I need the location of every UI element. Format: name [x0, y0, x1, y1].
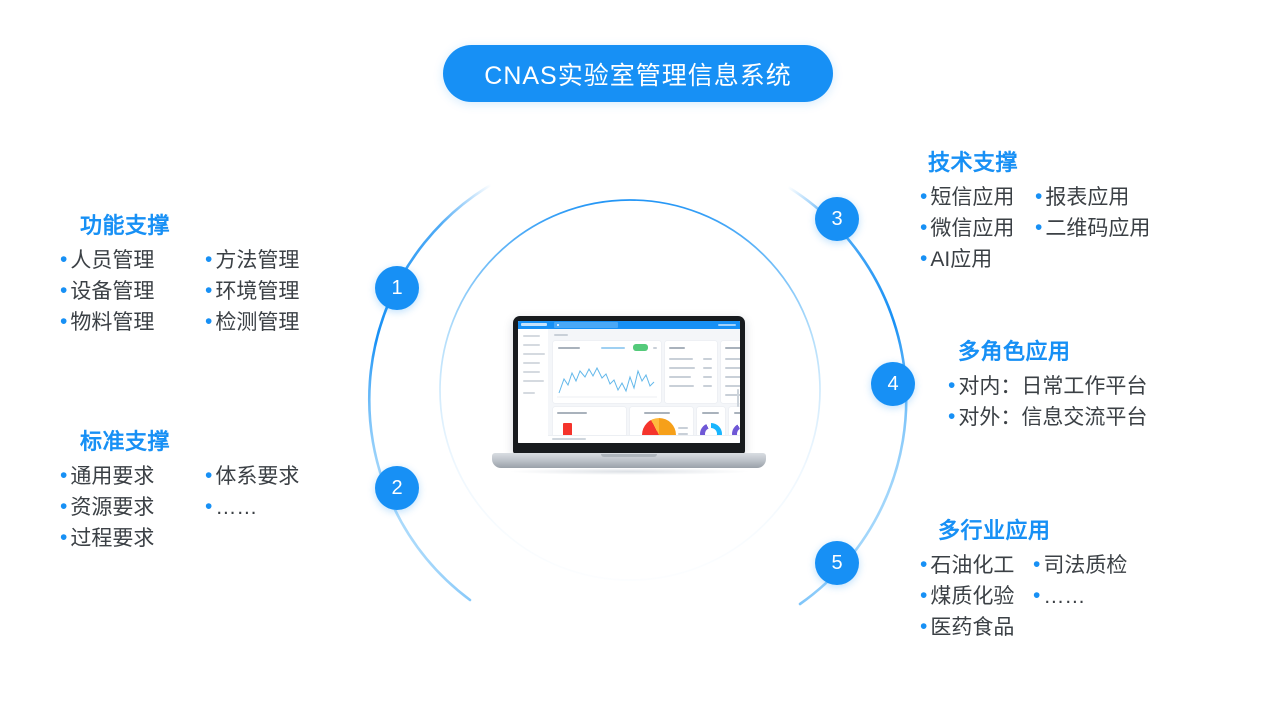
list-item-label: 体系要求 [215, 462, 299, 493]
card-list-one [665, 341, 717, 403]
step-node-4-label: 4 [887, 373, 898, 396]
list-item: •方法管理 [205, 246, 299, 277]
list-item-label: 设备管理 [70, 277, 154, 308]
line-chart-svg [557, 357, 657, 399]
list-item: •对外：信息交流平台 [948, 403, 1147, 434]
card-legend [601, 347, 625, 349]
list-item: •…… [1033, 582, 1127, 613]
list-item-label: 微信应用 [930, 214, 1014, 245]
list-value [703, 376, 712, 378]
list-item: •体系要求 [205, 462, 299, 493]
list-item-label: 医药食品 [930, 613, 1014, 644]
status-badge [633, 344, 648, 351]
block-multi-role-application-column-1: •对内：日常工作平台 •对外：信息交流平台 [948, 372, 1147, 434]
bullet-icon: • [948, 375, 955, 396]
block-multi-role-application: 多角色应用 •对内：日常工作平台 •对外：信息交流平台 [948, 334, 1147, 434]
bullet-icon: • [920, 217, 927, 238]
block-function-support: 功能支撑 •人员管理 •设备管理 •物料管理 •方法管理 •环境管理 •检测管理 [60, 208, 299, 339]
block-function-support-heading: 功能支撑 [80, 208, 299, 240]
dashboard-scrollbar[interactable] [737, 389, 739, 407]
laptop-lid [513, 316, 745, 454]
step-node-5[interactable]: 5 [815, 541, 859, 585]
list-item-label: 煤质化验 [930, 582, 1014, 613]
step-node-4[interactable]: 4 [871, 362, 915, 406]
list-item-label: 检测管理 [215, 308, 299, 339]
bullet-icon: • [205, 249, 212, 270]
sidebar-item [523, 392, 535, 394]
block-tech-support-column-1: •短信应用 •微信应用 •AI应用 [920, 183, 1035, 276]
list-value [703, 367, 712, 369]
dashboard-active-tab [554, 322, 618, 328]
bullet-icon: • [60, 249, 67, 270]
list-item-label: 短信应用 [930, 183, 1014, 214]
block-standard-support-heading: 标准支撑 [80, 424, 299, 456]
step-node-1[interactable]: 1 [375, 266, 419, 310]
dashboard-logo [521, 323, 547, 326]
list-item-label: 物料管理 [70, 308, 154, 339]
list-row [725, 376, 740, 378]
bullet-icon: • [920, 554, 927, 575]
block-standard-support-column-1: •通用要求 •资源要求 •过程要求 [60, 462, 205, 555]
block-multi-industry-application: 多行业应用 •石油化工 •煤质化验 •医药食品 •司法质检 •…… [920, 513, 1127, 644]
sidebar-item [523, 344, 540, 346]
bullet-icon: • [205, 465, 212, 486]
step-node-2[interactable]: 2 [375, 466, 419, 510]
bullet-icon: • [60, 280, 67, 301]
sidebar-item [523, 380, 544, 382]
list-item: •石油化工 [920, 551, 1033, 582]
list-item-label: …… [215, 493, 257, 524]
bullet-icon: • [920, 616, 927, 637]
list-item: •二维码应用 [1035, 214, 1150, 245]
block-function-support-column-2: •方法管理 •环境管理 •检测管理 [205, 246, 299, 339]
block-tech-support: 技术支撑 •短信应用 •微信应用 •AI应用 •报表应用 •二维码应用 [920, 145, 1150, 276]
slide-canvas: CNAS实验室管理信息系统 1 2 3 4 5 功能支撑 •人员管理 •设备管理… [0, 0, 1280, 720]
card-title [725, 347, 740, 349]
card-title [644, 412, 670, 414]
bullet-icon: • [60, 527, 67, 548]
list-item-label: 通用要求 [70, 462, 154, 493]
bullet-icon: • [1033, 554, 1040, 575]
list-item-label: AI应用 [930, 245, 992, 276]
step-node-5-label: 5 [831, 552, 842, 575]
list-item: •医药食品 [920, 613, 1033, 644]
bullet-icon: • [920, 186, 927, 207]
step-node-1-label: 1 [391, 277, 402, 300]
list-item-label: 人员管理 [70, 246, 154, 277]
bullet-icon: • [60, 311, 67, 332]
list-item: •检测管理 [205, 308, 299, 339]
list-item: •司法质检 [1033, 551, 1127, 582]
card-title [734, 412, 740, 414]
dashboard-body [548, 329, 740, 443]
block-function-support-column-1: •人员管理 •设备管理 •物料管理 [60, 246, 205, 339]
bullet-icon: • [920, 585, 927, 606]
card-title [557, 412, 587, 414]
list-item: •报表应用 [1035, 183, 1150, 214]
dashboard-user-area [718, 324, 736, 326]
card-title [558, 347, 580, 349]
laptop-base [492, 453, 766, 468]
block-multi-industry-application-heading: 多行业应用 [938, 513, 1127, 545]
dashboard-preview [518, 321, 740, 443]
list-item: •短信应用 [920, 183, 1035, 214]
block-tech-support-heading: 技术支撑 [928, 145, 1150, 177]
block-standard-support-column-2: •体系要求 •…… [205, 462, 299, 555]
list-item: •人员管理 [60, 246, 205, 277]
list-row [669, 385, 694, 387]
list-item: •物料管理 [60, 308, 205, 339]
list-item: •煤质化验 [920, 582, 1033, 613]
list-item: •资源要求 [60, 493, 205, 524]
list-item: •过程要求 [60, 524, 205, 555]
list-item: •微信应用 [920, 214, 1035, 245]
laptop-screen [518, 321, 740, 443]
block-multi-role-application-heading: 多角色应用 [958, 334, 1147, 366]
card-title [669, 347, 685, 349]
laptop-shadow [510, 468, 748, 475]
list-item: •环境管理 [205, 277, 299, 308]
footer-text [552, 438, 586, 440]
page-title-pill: CNAS实验室管理信息系统 [443, 45, 833, 102]
list-row [725, 358, 740, 360]
list-item-label: 过程要求 [70, 524, 154, 555]
dashboard-top-bar [518, 321, 740, 329]
laptop-dashboard-mockup [492, 316, 766, 481]
dashboard-sidebar [518, 329, 549, 443]
list-item-label: 二维码应用 [1045, 214, 1150, 245]
block-multi-industry-application-column-1: •石油化工 •煤质化验 •医药食品 [920, 551, 1033, 644]
list-item-label: …… [1043, 582, 1085, 613]
sidebar-item [523, 371, 540, 373]
step-node-3[interactable]: 3 [815, 197, 859, 241]
sidebar-item [523, 353, 545, 355]
card-title [702, 412, 719, 414]
pie-legend [678, 427, 688, 429]
list-item-label: 资源要求 [70, 493, 154, 524]
card-line-chart [553, 341, 661, 403]
list-item-label: 对外：信息交流平台 [958, 403, 1147, 434]
bullet-icon: • [1033, 585, 1040, 606]
bullet-icon: • [1035, 217, 1042, 238]
list-item: •通用要求 [60, 462, 205, 493]
block-tech-support-column-2: •报表应用 •二维码应用 [1035, 183, 1150, 276]
bullet-icon: • [948, 406, 955, 427]
list-row [725, 385, 740, 387]
list-item-label: 方法管理 [215, 246, 299, 277]
bullet-icon: • [205, 496, 212, 517]
bullet-icon: • [920, 248, 927, 269]
list-item: •对内：日常工作平台 [948, 372, 1147, 403]
list-row [669, 367, 695, 369]
bullet-icon: • [60, 465, 67, 486]
page-title: CNAS实验室管理信息系统 [484, 56, 791, 92]
list-item: •AI应用 [920, 245, 1035, 276]
list-row [725, 367, 740, 369]
dashboard-footer [548, 435, 740, 443]
card-menu-icon [653, 347, 657, 349]
block-multi-industry-application-column-2: •司法质检 •…… [1033, 551, 1127, 644]
list-item: •设备管理 [60, 277, 205, 308]
list-value [703, 358, 712, 360]
sidebar-item [523, 362, 540, 364]
list-value [703, 385, 712, 387]
list-item-label: 司法质检 [1043, 551, 1127, 582]
list-row [669, 376, 691, 378]
list-item-label: 石油化工 [930, 551, 1014, 582]
block-standard-support: 标准支撑 •通用要求 •资源要求 •过程要求 •体系要求 •…… [60, 424, 299, 555]
list-item: •…… [205, 493, 299, 524]
list-row [669, 358, 693, 360]
bullet-icon: • [1035, 186, 1042, 207]
sidebar-item [523, 335, 540, 337]
list-item-label: 环境管理 [215, 277, 299, 308]
bullet-icon: • [205, 311, 212, 332]
breadcrumb [554, 334, 568, 336]
bullet-icon: • [60, 496, 67, 517]
step-node-2-label: 2 [391, 477, 402, 500]
bullet-icon: • [205, 280, 212, 301]
list-item-label: 报表应用 [1045, 183, 1129, 214]
list-item-label: 对内：日常工作平台 [958, 372, 1147, 403]
step-node-3-label: 3 [831, 208, 842, 231]
